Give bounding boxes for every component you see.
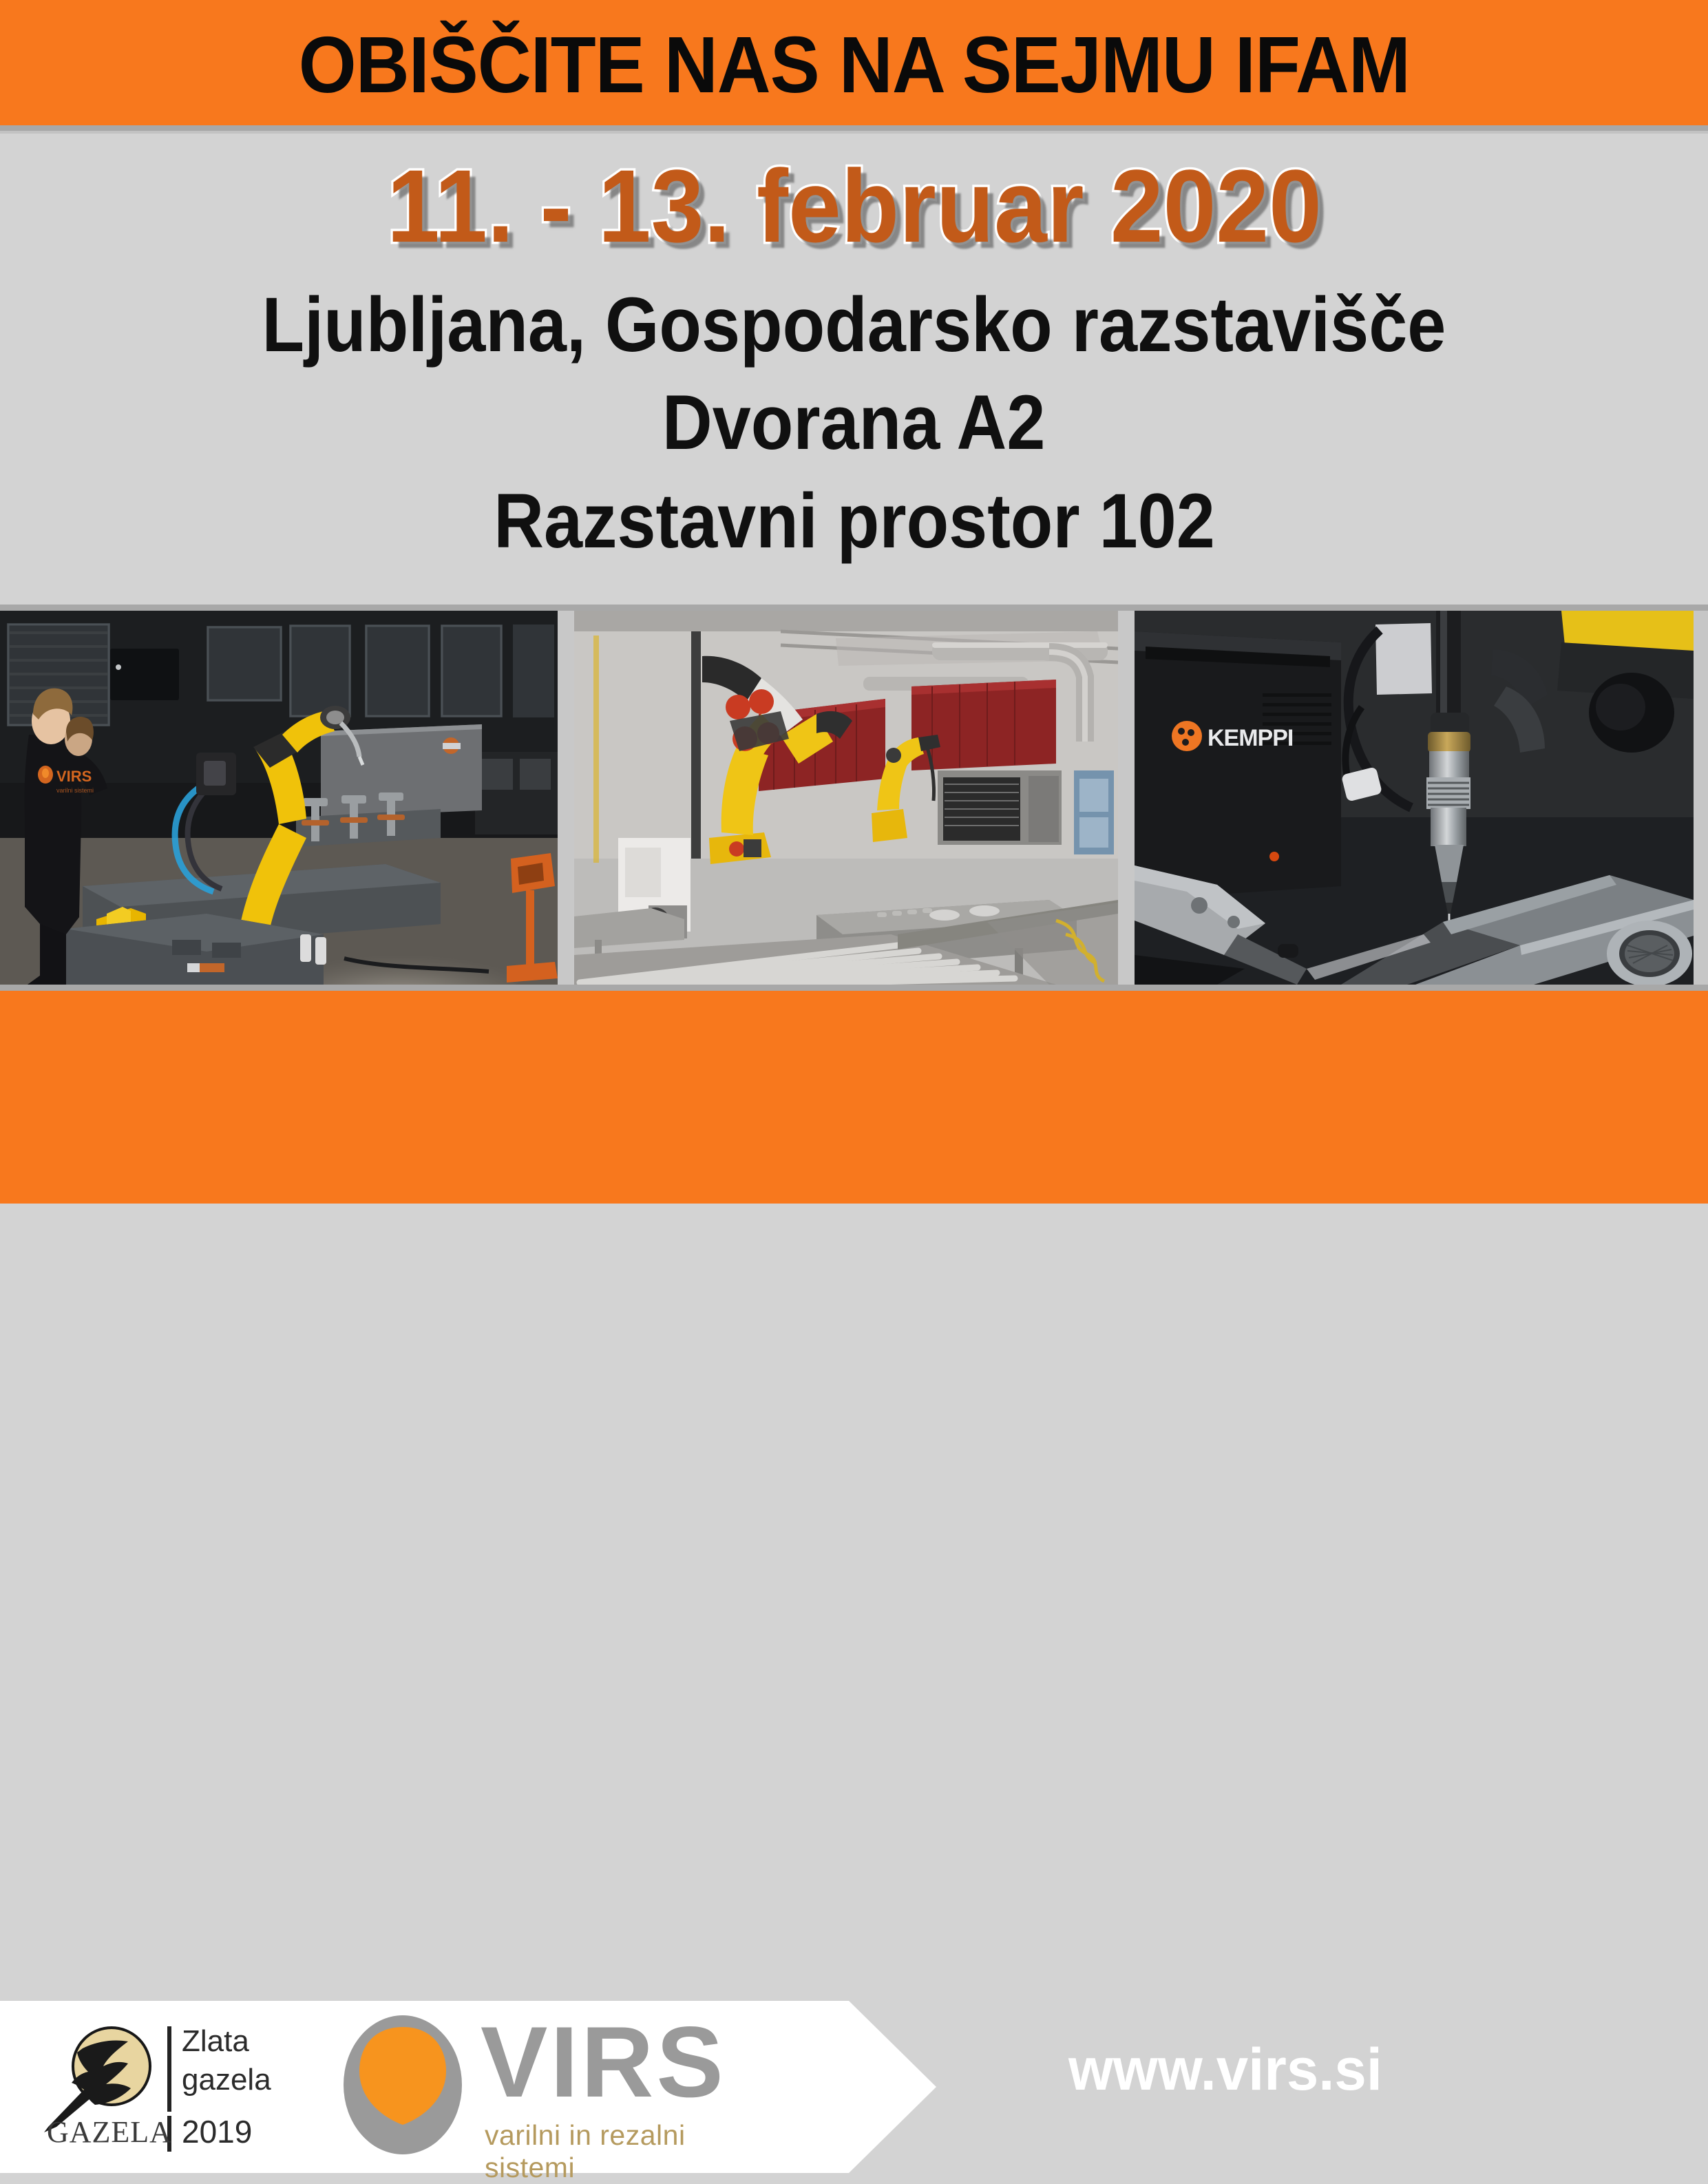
venue-stand: Razstavni prostor 102 bbox=[494, 471, 1215, 571]
virs-wordmark: VIRS bbox=[481, 2012, 726, 2112]
svg-text:varilni sistemi: varilni sistemi bbox=[56, 787, 94, 794]
zlata-gazela-award-logo: Zlata gazela GAZELA 2019 bbox=[40, 2024, 253, 2154]
gazela-divider-top bbox=[167, 2026, 171, 2112]
virs-logo[interactable]: VIRS varilni in rezalni sistemi bbox=[343, 2015, 777, 2163]
website-url[interactable]: www.virs.si bbox=[1068, 2036, 1382, 2104]
svg-text:KEMPPI: KEMPPI bbox=[1208, 725, 1293, 751]
virs-droplet-icon bbox=[343, 2015, 463, 2156]
photo-factory-robot-line bbox=[574, 611, 1118, 985]
photo-gap-1 bbox=[558, 611, 574, 985]
gazela-gazela-line: gazela bbox=[182, 2061, 271, 2099]
photo-factory-robot-line-image bbox=[574, 611, 1118, 985]
event-date: 11. - 13. februar 2020 bbox=[387, 143, 1322, 269]
gazela-wordmark: GAZELA bbox=[47, 2114, 172, 2150]
venue-location: Ljubljana, Gospodarsko razstavišče bbox=[262, 275, 1446, 375]
photo-welding-torch-closeup-image: KEMPPI bbox=[1135, 611, 1694, 985]
svg-text:VIRS: VIRS bbox=[56, 768, 92, 785]
footer-band: Zlata gazela GAZELA 2019 VIRS varilni in… bbox=[0, 991, 1708, 1204]
venue-hall: Dvorana A2 bbox=[662, 372, 1045, 473]
gazela-year: 2019 bbox=[182, 2113, 252, 2150]
photo-strip-bottom-divider bbox=[0, 985, 1708, 991]
photo-strip: VIRS varilni sistemi bbox=[0, 611, 1708, 985]
photo-robotic-welding-cell: VIRS varilni sistemi bbox=[0, 611, 558, 985]
info-panel: 11. - 13. februar 2020 Ljubljana, Gospod… bbox=[0, 134, 1708, 605]
divider-dark bbox=[0, 125, 1708, 131]
gazela-zlata-gazela-text: Zlata gazela bbox=[182, 2022, 271, 2100]
photo-robotic-welding-cell-image: VIRS varilni sistemi bbox=[0, 611, 558, 985]
top-banner: OBIŠČITE NAS NA SEJMU IFAM bbox=[0, 0, 1708, 125]
virs-tagline: varilni in rezalni sistemi bbox=[485, 2119, 777, 2184]
photo-gap-2 bbox=[1118, 611, 1135, 985]
gazela-zlata-line: Zlata bbox=[182, 2022, 271, 2061]
photo-welding-torch-closeup: KEMPPI bbox=[1135, 611, 1694, 985]
promo-poster: OBIŠČITE NAS NA SEJMU IFAM 11. - 13. feb… bbox=[0, 0, 1708, 1204]
photo-strip-top-divider bbox=[0, 605, 1708, 611]
page-title: OBIŠČITE NAS NA SEJMU IFAM bbox=[298, 25, 1409, 105]
